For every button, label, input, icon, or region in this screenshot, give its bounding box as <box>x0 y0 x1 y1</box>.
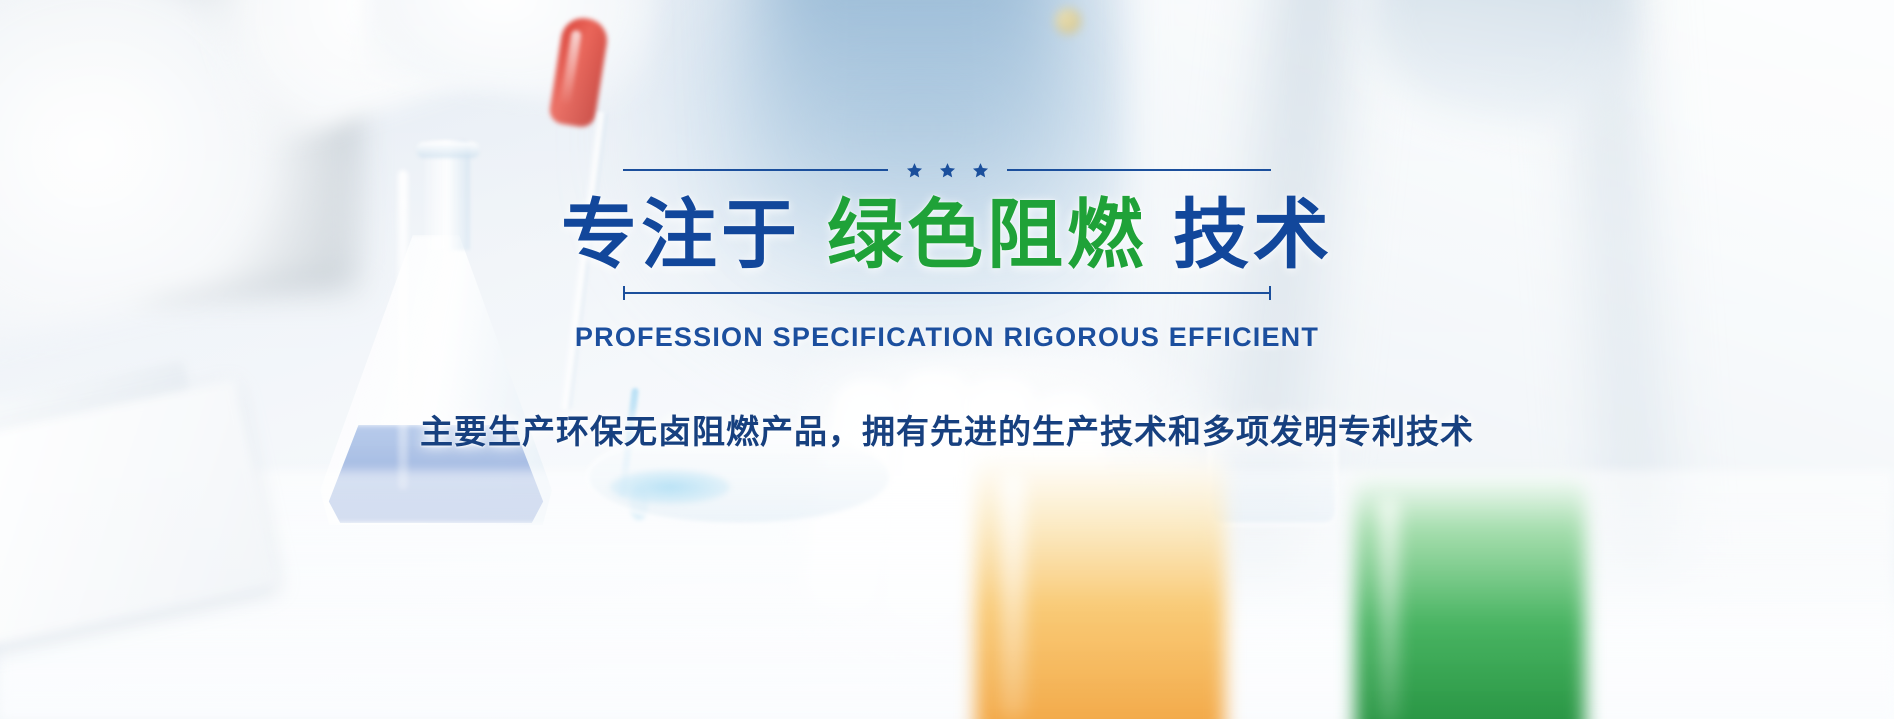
chinese-tagline: 主要生产环保无卤阻燃产品，拥有先进的生产技术和多项发明专利技术 <box>420 405 1474 453</box>
star-icon <box>939 162 956 179</box>
rule-segment-left <box>623 169 888 171</box>
headline-part-technology: 技术 <box>1173 198 1333 274</box>
bottom-rule <box>623 286 1271 300</box>
star-icon <box>972 162 989 179</box>
headline: 专注于 绿色阻燃 技术 <box>561 192 1333 284</box>
banner-content: 专注于 绿色阻燃 技术 PROFESSION SPECIFICATION RIG… <box>0 0 1894 719</box>
star-group <box>888 162 1007 179</box>
rule-segment-right <box>1007 169 1272 171</box>
rule-bar <box>623 292 1271 294</box>
hero-banner: 专注于 绿色阻燃 技术 PROFESSION SPECIFICATION RIG… <box>0 0 1894 719</box>
headline-part-focus: 专注于 <box>561 198 801 274</box>
english-subtitle: PROFESSION SPECIFICATION RIGOROUS EFFICI… <box>575 322 1319 353</box>
star-icon <box>906 162 923 179</box>
top-rule-with-stars <box>623 160 1271 180</box>
rule-cap-right <box>1269 286 1271 300</box>
headline-part-green-fr: 绿色阻燃 <box>827 198 1147 274</box>
